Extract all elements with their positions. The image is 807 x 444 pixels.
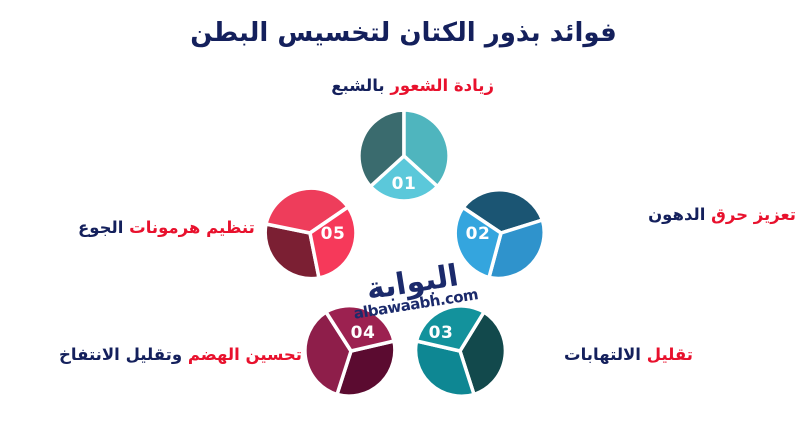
label-01-navy: بالشبع (331, 76, 384, 95)
label-04-red: تحسين الهضم (188, 345, 302, 364)
label-02-red: تعزيز حرق (711, 205, 796, 224)
page-title: فوائد بذور الكتان لتخسيس البطن (0, 18, 807, 48)
infographic-canvas: فوائد بذور الكتان لتخسيس البطن 01 زيادة … (0, 0, 807, 444)
label-03-red: تقليل (647, 345, 693, 364)
pie-chart-02[interactable]: 02 (453, 185, 549, 281)
label-01-red: زيادة الشعور (390, 76, 494, 95)
label-item-02: تعزيز حرق الدهون (571, 205, 796, 225)
pie-03-svg (412, 303, 508, 399)
label-04-navy: وتقليل الانتفاخ (59, 345, 182, 364)
pie-04-svg (303, 303, 399, 399)
pie-chart-04[interactable]: 04 (303, 303, 399, 399)
pie-02-svg (453, 185, 549, 281)
label-02-navy: الدهون (648, 205, 705, 224)
pie-01-svg (356, 108, 452, 204)
label-item-03: تقليل الالتهابات (528, 345, 693, 365)
label-03-navy: الالتهابات (564, 345, 641, 364)
pie-05-svg (262, 185, 358, 281)
label-item-01: زيادة الشعور بالشبع (334, 76, 494, 96)
label-05-red: تنظيم هرمونات (129, 218, 255, 237)
label-05-navy: الجوع (78, 218, 123, 237)
label-item-04: تحسين الهضم وتقليل الانتفاخ (62, 345, 302, 365)
label-item-05: تنظيم هرمونات الجوع (78, 218, 258, 238)
pie-chart-01[interactable]: 01 (356, 108, 452, 204)
pie-chart-03[interactable]: 03 (412, 303, 508, 399)
pie-chart-05[interactable]: 05 (262, 185, 358, 281)
